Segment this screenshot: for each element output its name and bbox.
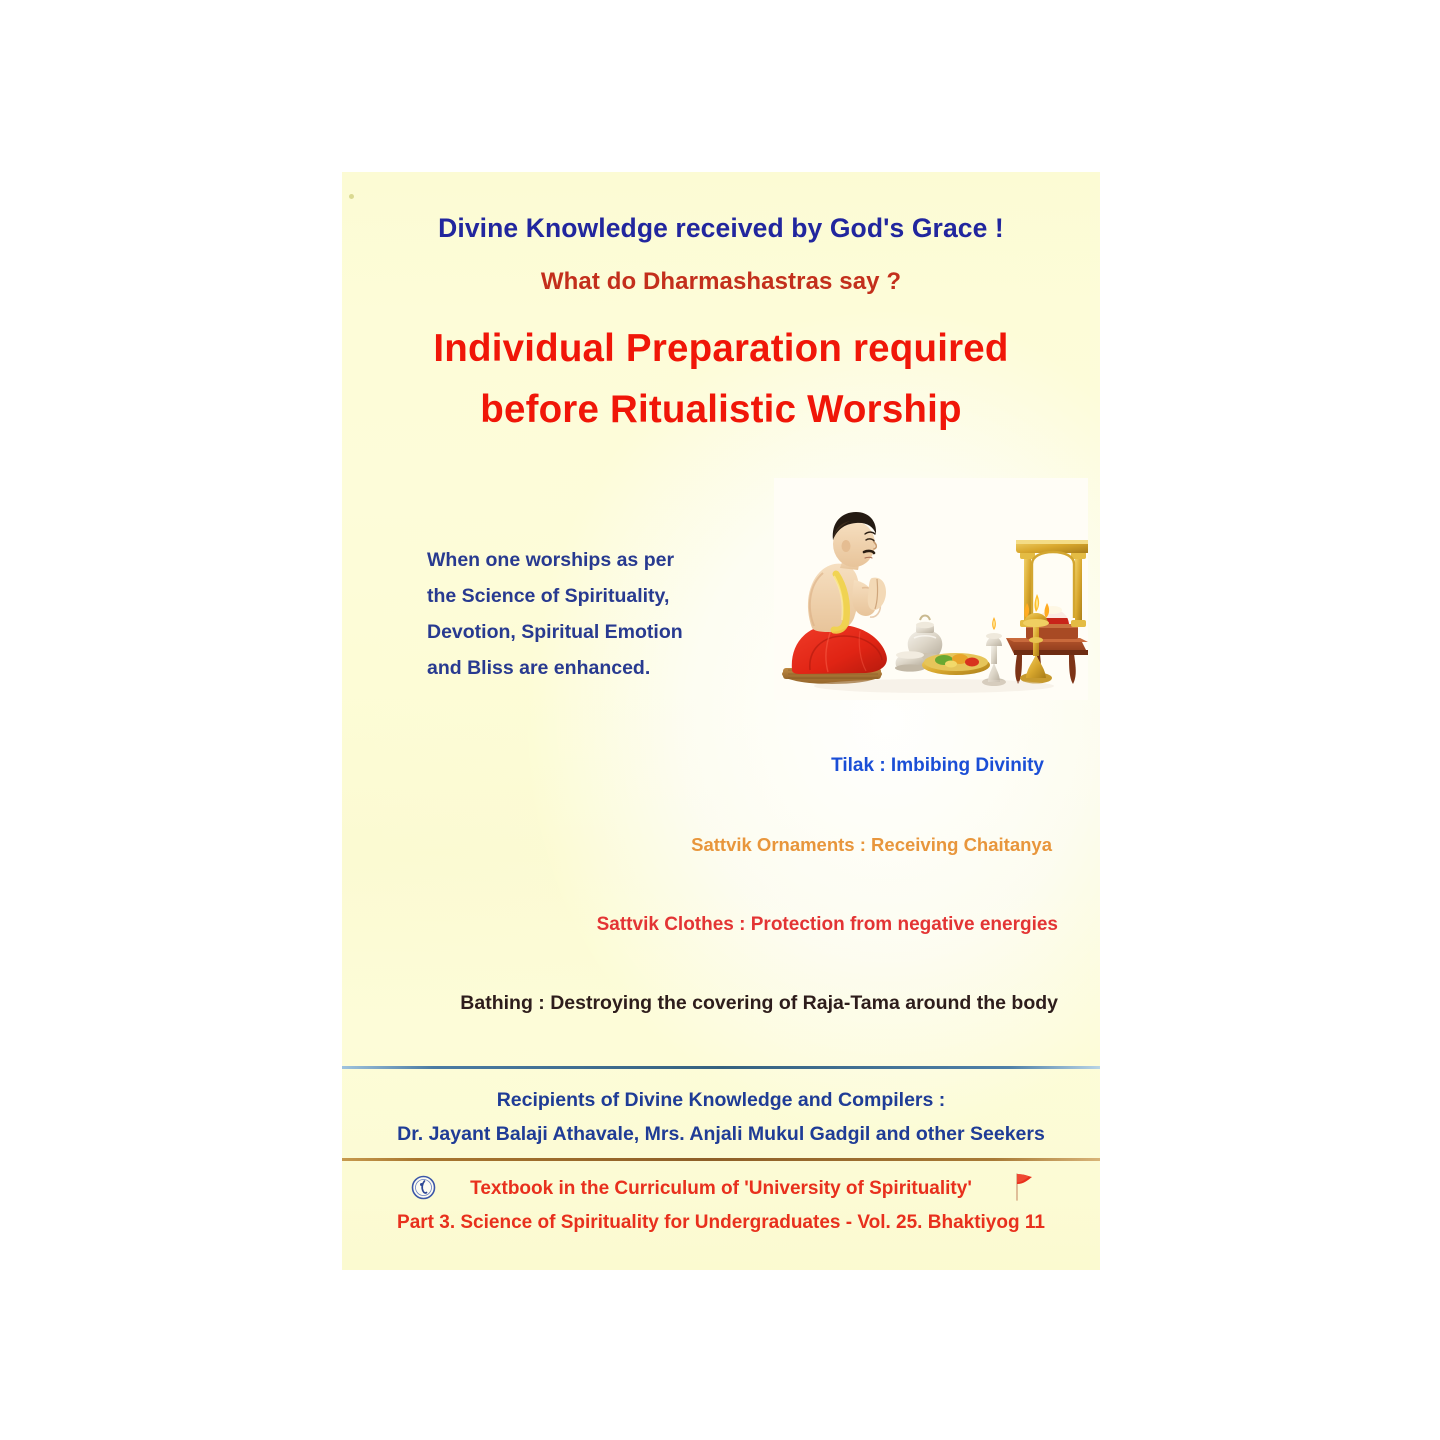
intro-line-4: and Bliss are enhanced. (427, 650, 727, 686)
caption-tilak: Tilak : Imbibing Divinity (831, 755, 1044, 777)
seated-worshipper-illustration (774, 478, 1088, 700)
saffron-flag-icon (1010, 1172, 1036, 1202)
caption-bathing: Bathing : Destroying the covering of Raj… (460, 992, 1058, 1015)
header-divine-knowledge-line: Divine Knowledge received by God's Grace… (342, 213, 1100, 244)
divider-lower (342, 1158, 1100, 1161)
intro-paragraph: When one worships as per the Science of … (427, 542, 727, 686)
book-cover: Divine Knowledge received by God's Grace… (342, 172, 1100, 1270)
header-dharmashastras-question: What do Dharmashastras say ? (342, 268, 1100, 296)
page-title-line-2: before Ritualistic Worship (342, 380, 1100, 441)
paper-speck (349, 194, 354, 199)
intro-line-2: the Science of Spirituality, (427, 578, 727, 614)
divider-upper (342, 1066, 1100, 1069)
page-title-line-1: Individual Preparation required (342, 319, 1100, 380)
intro-line-3: Devotion, Spiritual Emotion (427, 614, 727, 650)
page-title: Individual Preparation required before R… (342, 319, 1100, 441)
caption-clothes: Sattvik Clothes : Protection from negati… (597, 914, 1058, 936)
credits-heading: Recipients of Divine Knowledge and Compi… (342, 1089, 1100, 1112)
screenshot-canvas: Divine Knowledge received by God's Grace… (0, 0, 1440, 1440)
footer-curriculum-line: Textbook in the Curriculum of 'Universit… (342, 1178, 1100, 1200)
intro-line-1: When one worships as per (427, 542, 727, 578)
credits-authors: Dr. Jayant Balaji Athavale, Mrs. Anjali … (342, 1123, 1100, 1146)
footer-volume-line: Part 3. Science of Spirituality for Unde… (342, 1212, 1100, 1234)
caption-ornaments: Sattvik Ornaments : Receiving Chaitanya (691, 834, 1052, 856)
